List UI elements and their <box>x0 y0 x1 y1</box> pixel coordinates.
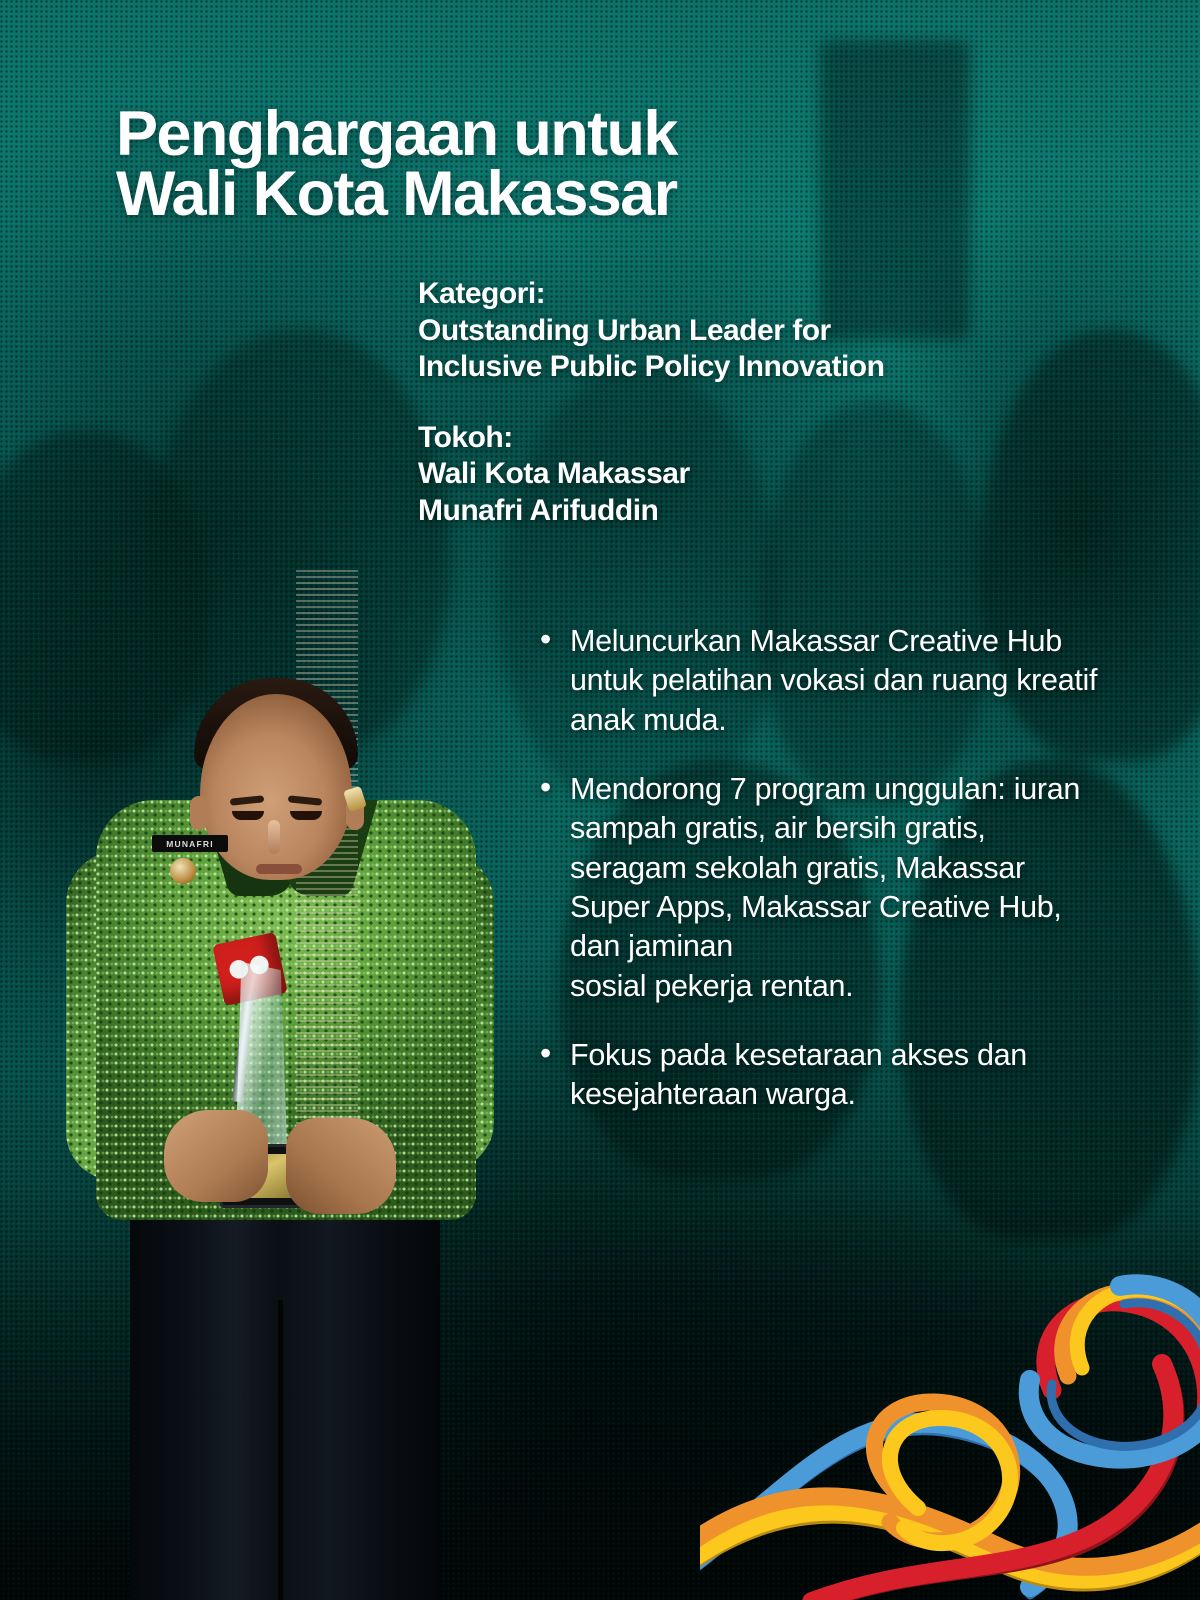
category-label: Kategori: <box>418 276 1118 313</box>
subject-hand-right <box>286 1118 396 1214</box>
person-line-1: Wali Kota Makassar <box>418 456 1118 493</box>
title-line-2: Wali Kota Makassar <box>116 164 916 224</box>
lapel-pin <box>170 858 196 884</box>
subject-hand-left <box>164 1110 268 1202</box>
name-badge-text: MUNAFRI <box>166 839 214 849</box>
person-label: Tokoh: <box>418 420 1118 457</box>
achievements-list: Meluncurkan Makassar Creative Hub untuk … <box>536 622 1106 1145</box>
subject-mouth <box>256 864 302 874</box>
achievements-ul: Meluncurkan Makassar Creative Hub untuk … <box>536 622 1106 1115</box>
meta-spacer <box>418 386 1118 420</box>
category-line-2: Inclusive Public Policy Innovation <box>418 349 1118 386</box>
subject-trousers <box>130 1180 440 1600</box>
subject-ear-left <box>190 796 208 830</box>
list-item: Mendorong 7 program unggulan: iuran samp… <box>536 770 1106 1006</box>
trouser-seam <box>278 1300 283 1600</box>
subject-photo-man-with-trophy: MUNAFRI <box>60 570 580 1600</box>
subject-eye-right <box>290 811 322 820</box>
subject-eye-left <box>232 811 264 820</box>
list-item: Meluncurkan Makassar Creative Hub untuk … <box>536 622 1106 740</box>
subject-nose <box>268 820 280 854</box>
award-meta-block: Kategori: Outstanding Urban Leader for I… <box>418 276 1118 530</box>
page-title: Penghargaan untuk Wali Kota Makassar <box>116 104 916 225</box>
poster-canvas: MUNAFRI <box>0 0 1200 1600</box>
list-item: Fokus pada kesetaraan akses dan kesejaht… <box>536 1036 1106 1115</box>
name-badge: MUNAFRI <box>152 835 228 852</box>
ribbon-swoosh-graphic <box>700 1250 1200 1600</box>
category-line-1: Outstanding Urban Leader for <box>418 313 1118 350</box>
person-line-2: Munafri Arifuddin <box>418 493 1118 530</box>
title-line-1: Penghargaan untuk <box>116 104 916 164</box>
